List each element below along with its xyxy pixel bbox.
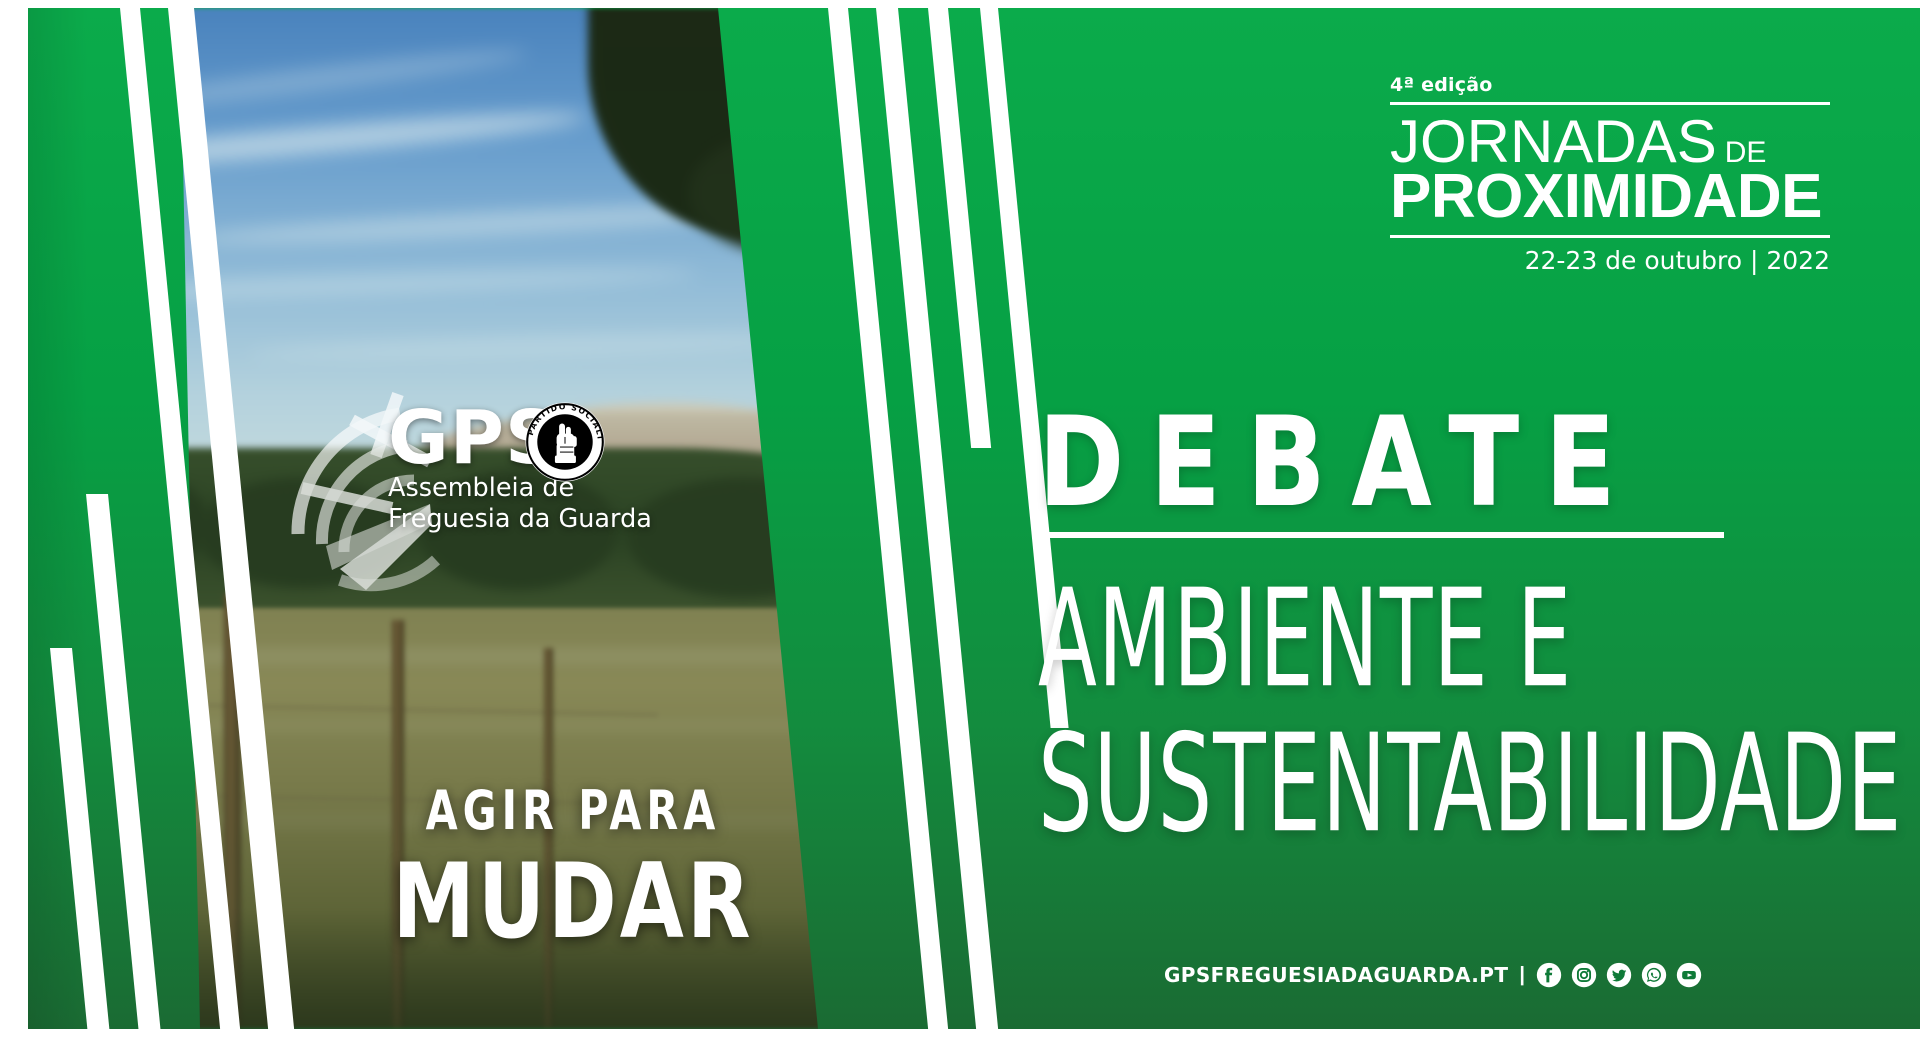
event-header: 4ª edição JORNADAS DE PROXIMIDADE 22-23 …	[1390, 74, 1830, 275]
event-title-second: PROXIMIDADE	[1390, 167, 1830, 228]
decorative-stripe	[928, 8, 991, 448]
debate-kicker: DEBATE	[1038, 400, 1812, 524]
footer-separator: |	[1519, 964, 1525, 987]
twitter-icon[interactable]	[1606, 962, 1632, 988]
instagram-icon[interactable]	[1571, 962, 1597, 988]
gps-logo: GPS Assembleia de Freguesia da Guarda PA…	[280, 394, 710, 594]
tagline-main: MUDAR	[358, 851, 788, 954]
header-rule-bottom	[1390, 235, 1830, 238]
facebook-icon[interactable]	[1536, 962, 1562, 988]
campaign-tagline: AGIR PARA MUDAR	[358, 783, 788, 943]
right-content-panel: 4ª edição JORNADAS DE PROXIMIDADE 22-23 …	[1038, 8, 1890, 1029]
website-url[interactable]: GPSFREGUESIADAGUARDA.PT	[1164, 963, 1508, 987]
event-date: 22-23 de outubro | 2022	[1390, 246, 1830, 275]
header-rule-top	[1390, 102, 1830, 105]
green-background-panel: GPS Assembleia de Freguesia da Guarda PA…	[28, 8, 1920, 1029]
frame-left	[0, 0, 28, 1037]
topic-line-2: SUSTENTABILIDADE	[1038, 721, 1765, 847]
event-banner: GPS Assembleia de Freguesia da Guarda PA…	[0, 0, 1920, 1037]
topic-line-1: AMBIENTE E	[1038, 576, 1765, 702]
frame-top	[0, 0, 1920, 8]
youtube-icon[interactable]	[1676, 962, 1702, 988]
frame-bottom	[0, 1029, 1920, 1037]
tagline-top: AGIR PARA	[358, 783, 788, 837]
debate-topic-block: DEBATE AMBIENTE E SUSTENTABILIDADE	[1038, 400, 1828, 817]
gps-subtitle-line2: Freguesia da Guarda	[388, 505, 718, 534]
partido-socialista-emblem: PARTIDO SOCIALISTA	[523, 400, 607, 484]
whatsapp-icon[interactable]	[1641, 962, 1667, 988]
event-edition: 4ª edição	[1390, 74, 1830, 96]
footer-bar: GPSFREGUESIADAGUARDA.PT |	[1038, 962, 1828, 988]
